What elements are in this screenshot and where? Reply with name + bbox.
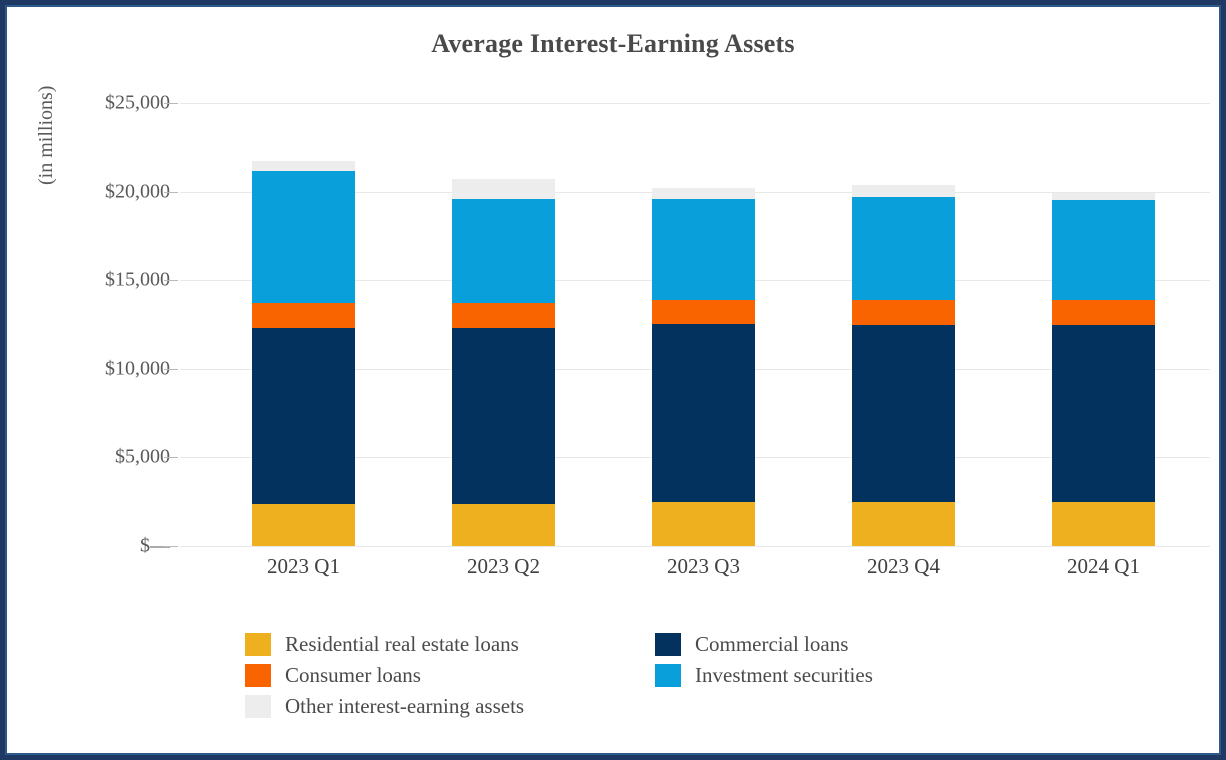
bar-segment bbox=[652, 300, 755, 324]
legend-item[interactable]: Commercial loans bbox=[655, 629, 873, 660]
bar-segment bbox=[252, 161, 355, 171]
legend-item-label: Other interest-earning assets bbox=[285, 694, 524, 719]
x-axis-tick-label: 2023 Q4 bbox=[824, 554, 984, 579]
bar-segment bbox=[852, 300, 955, 325]
y-axis-tick-label: $20,000 bbox=[60, 180, 170, 203]
bar-segment bbox=[452, 199, 555, 303]
legend-item-label: Residential real estate loans bbox=[285, 632, 519, 657]
y-axis-tick-label: $15,000 bbox=[60, 269, 170, 292]
y-axis-tick-mark bbox=[164, 546, 178, 547]
legend-item-label: Consumer loans bbox=[285, 663, 421, 688]
bar-segment bbox=[1052, 200, 1155, 299]
bar-segment bbox=[652, 502, 755, 546]
bar-segment bbox=[652, 324, 755, 502]
bar-segment bbox=[852, 502, 955, 546]
legend-item[interactable]: Investment securities bbox=[655, 660, 873, 691]
y-axis-tick-mark bbox=[164, 369, 178, 370]
bar-segment bbox=[452, 328, 555, 504]
legend-item[interactable]: Residential real estate loans bbox=[245, 629, 524, 660]
bar-segment bbox=[1052, 193, 1155, 201]
legend-item[interactable]: Other interest-earning assets bbox=[245, 691, 524, 722]
legend-swatch-icon bbox=[655, 664, 681, 687]
y-axis-tick-mark bbox=[164, 103, 178, 104]
bar-segment bbox=[652, 188, 755, 199]
legend-item-label: Investment securities bbox=[695, 663, 873, 688]
y-axis-title: (in millions) bbox=[35, 86, 58, 185]
y-axis-tick-mark bbox=[164, 280, 178, 281]
x-axis-tick-label: 2024 Q1 bbox=[1024, 554, 1184, 579]
chart-frame: Average Interest-Earning Assets (in mill… bbox=[0, 0, 1226, 760]
bar-segment bbox=[452, 179, 555, 199]
x-axis-tick-label: 2023 Q3 bbox=[624, 554, 784, 579]
bar-segment bbox=[252, 171, 355, 303]
bar-segment bbox=[452, 303, 555, 328]
gridline bbox=[180, 546, 1210, 547]
gridline bbox=[180, 103, 1210, 104]
bar-segment bbox=[652, 199, 755, 300]
bar-segment bbox=[252, 328, 355, 504]
legend-swatch-icon bbox=[245, 633, 271, 656]
bar-segment bbox=[852, 197, 955, 299]
plot-area bbox=[180, 103, 1210, 546]
bar-segment bbox=[252, 303, 355, 328]
legend-swatch-icon bbox=[655, 633, 681, 656]
bar-segment bbox=[1052, 300, 1155, 325]
y-axis-tick-mark bbox=[164, 457, 178, 458]
y-axis-tick-label: $10,000 bbox=[60, 357, 170, 380]
y-axis-tick-label: $25,000 bbox=[60, 92, 170, 115]
legend-column-left: Residential real estate loansConsumer lo… bbox=[245, 629, 524, 722]
bar-segment bbox=[252, 504, 355, 546]
bar-segment bbox=[1052, 502, 1155, 546]
chart-title: Average Interest-Earning Assets bbox=[5, 29, 1221, 59]
x-axis-tick-label: 2023 Q1 bbox=[224, 554, 384, 579]
bar-segment bbox=[852, 325, 955, 503]
bar-segment bbox=[852, 185, 955, 197]
bar-segment bbox=[452, 504, 555, 546]
bar-segment bbox=[1052, 325, 1155, 502]
legend-column-right: Commercial loansInvestment securities bbox=[655, 629, 873, 691]
x-axis-tick-label: 2023 Q2 bbox=[424, 554, 584, 579]
y-axis-tick-label: $— bbox=[60, 535, 170, 558]
y-axis-tick-label: $5,000 bbox=[60, 446, 170, 469]
y-axis-tick-mark bbox=[164, 192, 178, 193]
legend-item[interactable]: Consumer loans bbox=[245, 660, 524, 691]
legend-item-label: Commercial loans bbox=[695, 632, 848, 657]
legend-swatch-icon bbox=[245, 695, 271, 718]
legend-swatch-icon bbox=[245, 664, 271, 687]
